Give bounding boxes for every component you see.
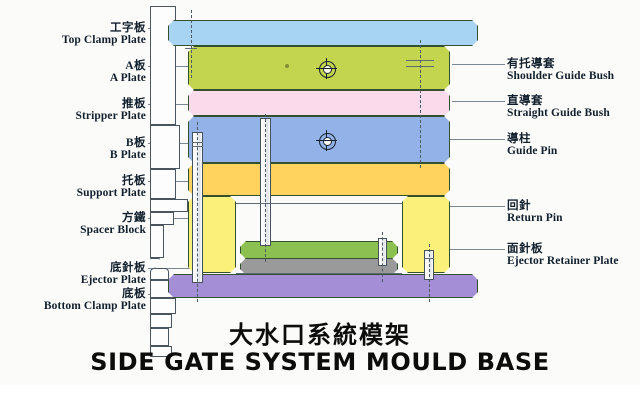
label-spacer-block-cn: 方鐵 — [8, 212, 146, 224]
label-a-plate: A板 A Plate — [8, 60, 146, 85]
label-spacer-block: 方鐵 Spacer Block — [8, 212, 146, 237]
part-support-plate — [188, 163, 450, 196]
label-b-plate: B板 B Plate — [8, 137, 146, 162]
label-spacer-block-en: Spacer Block — [8, 224, 146, 236]
label-bottom-clamp-plate: 底板 Bottom Clamp Plate — [4, 288, 146, 313]
bottom-white-strip — [0, 385, 640, 410]
part-sprue-bushing-tip — [150, 258, 160, 268]
a-plate-target-icon — [318, 60, 335, 77]
label-guide-pin-cn: 導柱 — [507, 133, 557, 145]
label-ejector-retainer-plate: 面針板 Ejector Retainer Plate — [507, 243, 619, 268]
label-ejector-retainer-plate-en: Ejector Retainer Plate — [507, 255, 619, 267]
label-support-plate-cn: 托板 — [8, 175, 146, 187]
label-shoulder-guide-bush-en: Shoulder Guide Bush — [507, 70, 614, 82]
clamp-screw-right-centerline — [429, 244, 430, 302]
label-a-plate-en: A Plate — [8, 72, 146, 84]
label-ejector-plate: 底針板 Ejector Plate — [8, 262, 146, 287]
part-shoulder-guide-bush — [150, 125, 180, 169]
label-support-plate-en: Support Plate — [8, 187, 146, 199]
label-top-clamp-plate: 工字板 Top Clamp Plate — [8, 22, 146, 47]
return-pin-left-line-2 — [192, 146, 203, 147]
label-b-plate-en: B Plate — [8, 149, 146, 161]
label-guide-pin: 導柱 Guide Pin — [507, 133, 557, 158]
label-straight-guide-bush-cn: 直導套 — [507, 95, 610, 107]
label-ejector-plate-cn: 底針板 — [8, 262, 146, 274]
label-guide-pin-en: Guide Pin — [507, 145, 557, 157]
sprue-centerline — [191, 10, 192, 78]
label-straight-guide-bush-en: Straight Guide Bush — [507, 107, 610, 119]
diagram-canvas: 工字板 Top Clamp Plate A板 A Plate 推板 Stripp… — [0, 0, 640, 410]
label-ejector-plate-en: Ejector Plate — [8, 274, 146, 286]
return-pin-inner-centerline — [382, 232, 383, 282]
label-top-clamp-plate-en: Top Clamp Plate — [8, 34, 146, 46]
label-ejector-retainer-plate-cn: 面針板 — [507, 243, 619, 255]
return-pin-left-centerline — [197, 122, 198, 302]
clamp-screw-right-line — [424, 258, 434, 259]
part-straight-guide-bush — [150, 169, 176, 199]
label-shoulder-guide-bush: 有托導套 Shoulder Guide Bush — [507, 58, 614, 83]
title-english: SIDE GATE SYSTEM MOULD BASE — [0, 348, 640, 376]
ejector-pin-center-foot — [150, 298, 176, 314]
cavity-reference-line — [236, 203, 402, 204]
label-stripper-plate-en: Stripper Plate — [8, 110, 146, 122]
part-sprue-bushing-head — [150, 212, 174, 225]
return-pin-left-head — [150, 268, 169, 280]
ejector-pin-center-centerline — [265, 114, 266, 262]
label-bottom-clamp-plate-cn: 底板 — [4, 288, 146, 300]
label-stripper-plate-cn: 推板 — [8, 98, 146, 110]
part-sprue-bushing-body — [150, 225, 164, 258]
label-b-plate-cn: B板 — [8, 137, 146, 149]
label-straight-guide-bush: 直導套 Straight Guide Bush — [507, 95, 610, 120]
title-chinese: 大水口系統模架 — [0, 315, 640, 350]
ejector-reference-line — [236, 273, 402, 274]
b-plate-target-icon — [318, 132, 335, 149]
part-stripper-plate — [188, 90, 450, 116]
label-stripper-plate: 推板 Stripper Plate — [8, 98, 146, 123]
label-bottom-clamp-plate-en: Bottom Clamp Plate — [4, 300, 146, 312]
label-top-clamp-plate-cn: 工字板 — [8, 22, 146, 34]
label-shoulder-guide-bush-cn: 有托導套 — [507, 58, 614, 70]
label-support-plate: 托板 Support Plate — [8, 175, 146, 200]
sprue-line-1 — [185, 48, 197, 49]
label-return-pin: 回針 Return Pin — [507, 200, 563, 225]
label-return-pin-en: Return Pin — [507, 212, 563, 224]
part-top-clamp-plate — [168, 20, 478, 46]
a-plate-speck — [285, 64, 289, 68]
label-return-pin-cn: 回針 — [507, 200, 563, 212]
mould-base-cross-section — [150, 6, 495, 311]
guide-pin-foot — [150, 199, 188, 212]
return-pin-left-line-1 — [192, 142, 203, 143]
guide-pin-centerline — [420, 40, 421, 168]
label-a-plate-cn: A板 — [8, 60, 146, 72]
